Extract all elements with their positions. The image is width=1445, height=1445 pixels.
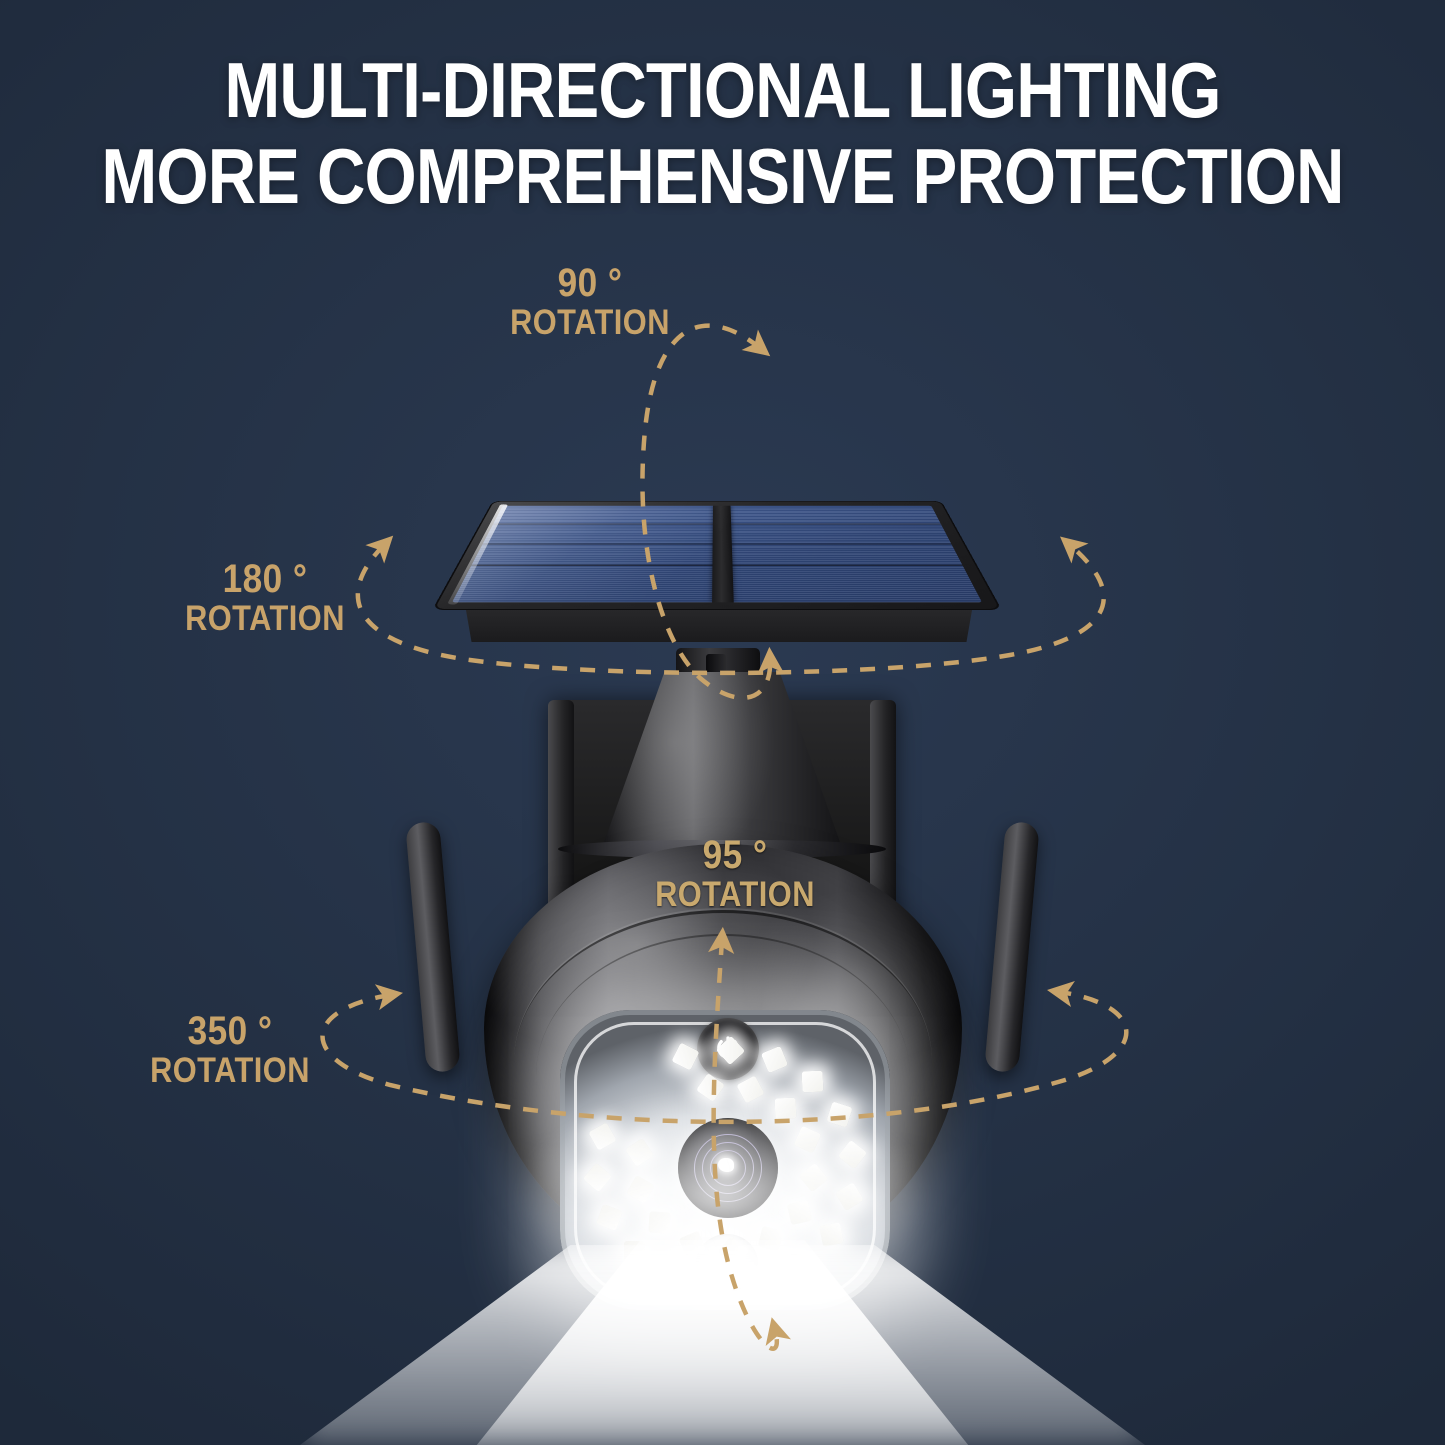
label-95-rotation: 95 ° ROTATION [634, 834, 836, 913]
label-180-rotation: 180 ° ROTATION [164, 558, 366, 637]
label-350-degrees: 350 ° [124, 1010, 335, 1052]
page-title: MULTI-DIRECTIONAL LIGHTING MORE COMPREHE… [101, 52, 1344, 215]
headline-line-1: MULTI-DIRECTIONAL LIGHTING [224, 46, 1220, 134]
label-180-degrees: 180 ° [164, 558, 366, 600]
label-90-text: ROTATION [502, 304, 678, 341]
product-infographic: MULTI-DIRECTIONAL LIGHTING MORE COMPREHE… [0, 0, 1445, 1445]
solar-panel-gloss [452, 506, 982, 603]
label-350-rotation: 350 ° ROTATION [124, 1010, 335, 1089]
antenna-left [405, 821, 461, 1073]
solar-panel [432, 362, 1002, 672]
label-350-text: ROTATION [124, 1052, 335, 1089]
label-95-degrees: 95 ° [634, 834, 836, 876]
headline-line-2: MORE COMPREHENSIVE PROTECTION [101, 138, 1344, 214]
solar-panel-top [432, 501, 1002, 610]
solar-panel-cells [452, 506, 982, 603]
label-90-degrees: 90 ° [502, 262, 678, 304]
antenna-right [984, 821, 1040, 1073]
label-95-text: ROTATION [634, 876, 836, 913]
camera-neck [602, 672, 842, 848]
label-180-text: ROTATION [164, 600, 366, 637]
label-90-rotation: 90 ° ROTATION [502, 262, 678, 341]
